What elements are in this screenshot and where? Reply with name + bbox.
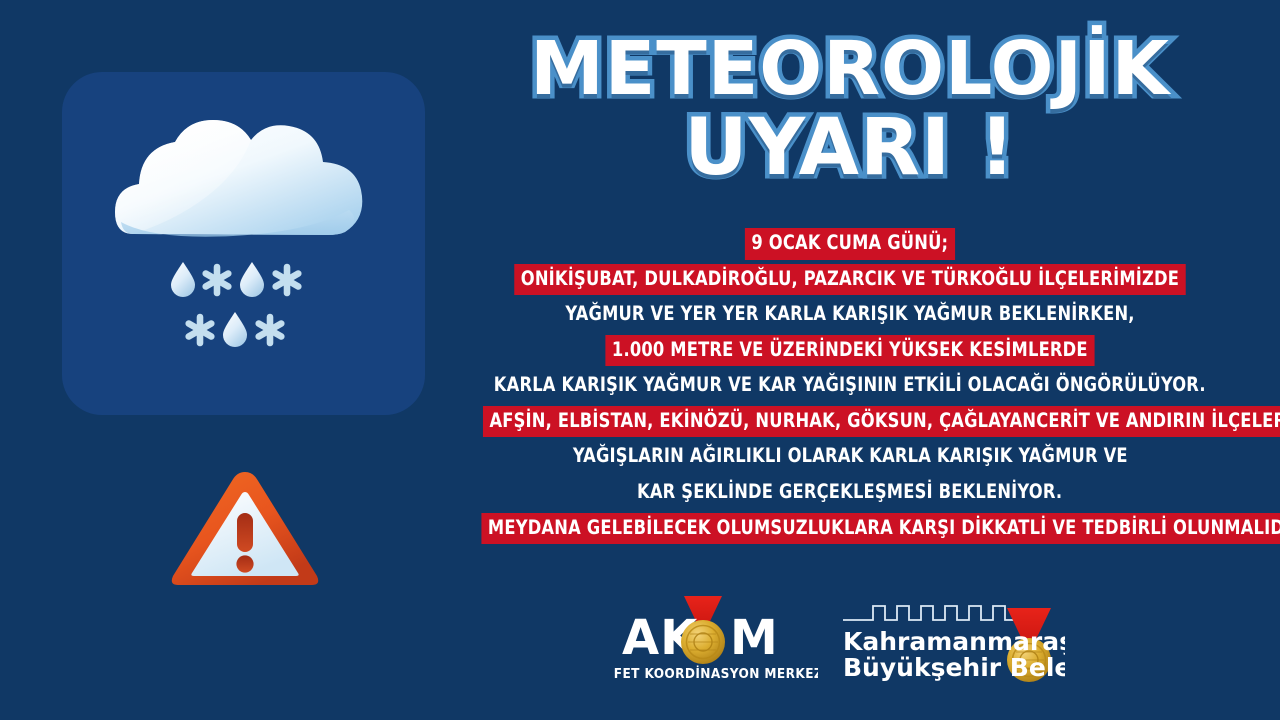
- page-title: METEOROLOJİK UYARI !: [450, 34, 1250, 186]
- message-line-text: AFŞİN, ELBİSTAN, EKİNÖZÜ, NURHAK, GÖKSUN…: [483, 406, 1280, 438]
- message-line: MEYDANA GELEBİLECEK OLUMSUZLUKLARA KARŞI…: [450, 513, 1250, 545]
- warning-triangle-icon: [168, 468, 322, 590]
- message-line: 1.000 METRE VE ÜZERİNDEKİ YÜKSEK KESİMLE…: [450, 335, 1250, 367]
- cloud-icon: [113, 114, 375, 252]
- message-line: KARLA KARIŞIK YAĞMUR VE KAR YAĞIŞININ ET…: [450, 370, 1250, 402]
- exclamation-bar: [237, 513, 253, 552]
- title-line-1: METEOROLOJİK: [450, 34, 1250, 105]
- snowflake-icon: [275, 267, 298, 293]
- raindrop-icon: [223, 312, 247, 347]
- precipitation-icons: [169, 258, 319, 358]
- snowflake-icon: [258, 317, 281, 343]
- raindrop-icon: [171, 262, 195, 297]
- message-line: YAĞMUR VE YER YER KARLA KARIŞIK YAĞMUR B…: [450, 299, 1250, 331]
- snowflake-icon: [205, 267, 228, 293]
- municipality-logo: Kahramanmaraş Büyükşehir Belediyesi: [843, 594, 1065, 686]
- akom-subtitle: AFET KOORDİNASYON MERKEZİ: [614, 665, 818, 682]
- message-line-text: 9 OCAK CUMA GÜNÜ;: [745, 228, 955, 260]
- medal-icon: [681, 620, 725, 664]
- exclamation-dot: [236, 555, 253, 572]
- meteorological-warning-poster: METEOROLOJİK UYARI ! 9 OCAK CUMA GÜNÜ; O…: [0, 0, 1280, 720]
- message-line: YAĞIŞLARIN AĞIRLIKLI OLARAK KARLA KARIŞI…: [450, 441, 1250, 473]
- message-line: ONİKİŞUBAT, DULKADİROĞLU, PAZARCIK VE TÜ…: [450, 264, 1250, 296]
- message-line-text: KARLA KARIŞIK YAĞMUR VE KAR YAĞIŞININ ET…: [488, 370, 1213, 402]
- raindrop-icon: [240, 262, 264, 297]
- snowflake-icon: [188, 317, 211, 343]
- akom-logo: AK M AFET KOORDİNASYON MERKEZİ: [614, 594, 818, 686]
- municipality-line2: Büyükşehir Belediyesi: [843, 653, 1065, 682]
- municipality-line1: Kahramanmaraş: [843, 627, 1065, 656]
- message-line-text: 1.000 METRE VE ÜZERİNDEKİ YÜKSEK KESİMLE…: [606, 335, 1095, 367]
- weather-icon-panel: [62, 72, 425, 415]
- title-line-2: UYARI !: [450, 111, 1250, 186]
- message-line: 9 OCAK CUMA GÜNÜ;: [450, 228, 1250, 260]
- message-line: AFŞİN, ELBİSTAN, EKİNÖZÜ, NURHAK, GÖKSUN…: [450, 406, 1250, 438]
- akom-wordmark-part2: M: [730, 610, 779, 666]
- message-line: KAR ŞEKLİNDE GERÇEKLEŞMESİ BEKLENİYOR.: [450, 477, 1250, 509]
- warning-message-block: 9 OCAK CUMA GÜNÜ; ONİKİŞUBAT, DULKADİROĞ…: [450, 228, 1250, 548]
- message-line-text: KAR ŞEKLİNDE GERÇEKLEŞMESİ BEKLENİYOR.: [631, 477, 1069, 509]
- message-line-text: MEYDANA GELEBİLECEK OLUMSUZLUKLARA KARŞI…: [481, 513, 1280, 545]
- message-line-text: YAĞIŞLARIN AĞIRLIKLI OLARAK KARLA KARIŞI…: [566, 441, 1134, 473]
- footer-logos: AK M AFET KOORDİNASYON MERKEZİ: [0, 588, 1280, 698]
- message-line-text: ONİKİŞUBAT, DULKADİROĞLU, PAZARCIK VE TÜ…: [514, 264, 1185, 296]
- message-line-text: YAĞMUR VE YER YER KARLA KARIŞIK YAĞMUR B…: [559, 299, 1141, 331]
